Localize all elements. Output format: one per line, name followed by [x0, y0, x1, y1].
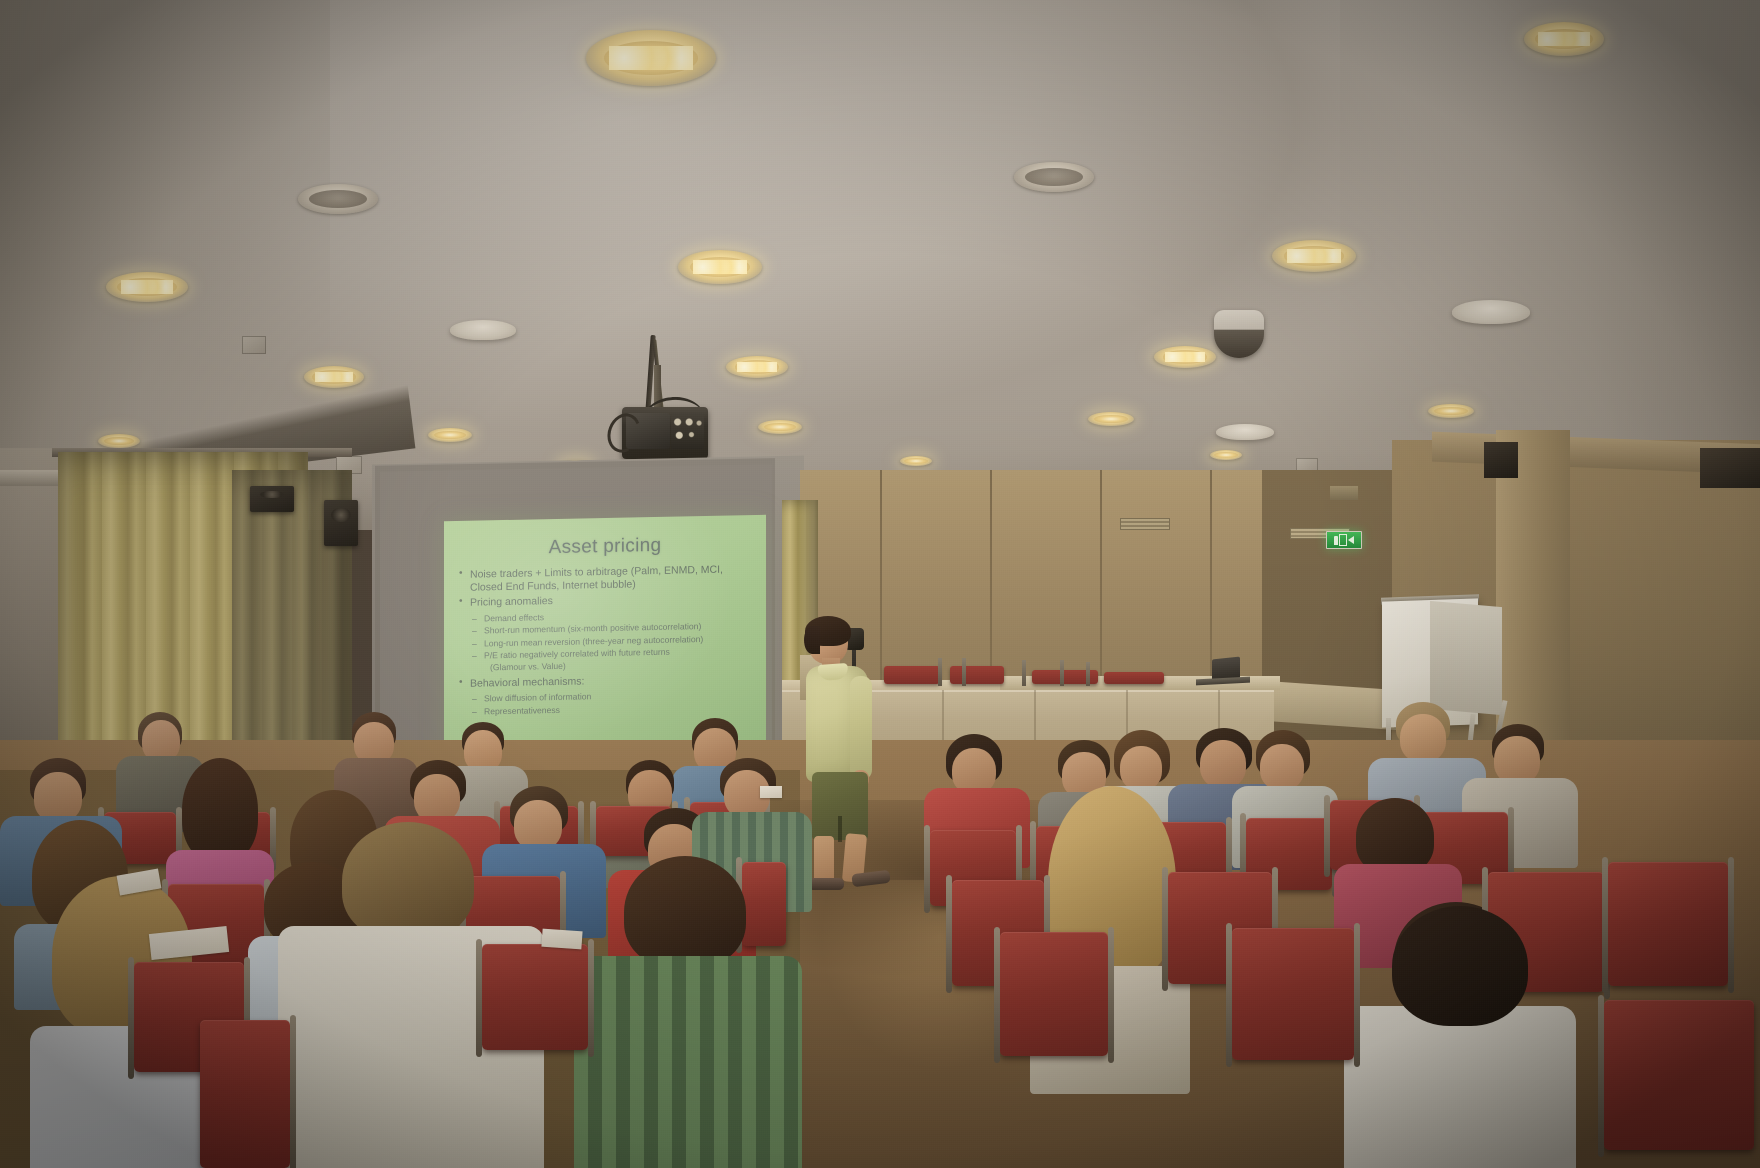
ceiling-light-unlit	[298, 184, 378, 214]
ceiling-light-lit	[726, 356, 788, 378]
person-hair	[1356, 798, 1434, 874]
left-wall-panel	[0, 448, 66, 788]
handout-paper	[541, 929, 582, 950]
presenter-leg	[814, 836, 834, 882]
presenter	[800, 620, 910, 895]
exit-sign-figure	[1334, 536, 1338, 545]
smoke-detector	[1452, 300, 1530, 324]
person-head	[414, 774, 460, 822]
auditorium-chair[interactable]	[1000, 932, 1108, 1056]
person-head	[34, 772, 82, 822]
chair-post	[1086, 662, 1090, 686]
ceiling-diffuser	[1216, 424, 1274, 440]
ceiling-light-lit	[1524, 22, 1604, 56]
ceiling-light-lit	[98, 434, 140, 448]
exit-sign-arrow-icon	[1348, 536, 1354, 544]
slide-title: Asset pricing	[444, 533, 766, 561]
wall-speaker	[324, 500, 358, 546]
auditorium-chair[interactable]	[482, 944, 588, 1050]
ceiling-light-lit	[1272, 240, 1356, 272]
stage-chair	[950, 666, 1004, 684]
slide-bullet: Noise traders + Limits to arbitrage (Pal…	[458, 563, 756, 594]
exit-sign-door	[1339, 534, 1347, 546]
chair-post	[1060, 660, 1064, 686]
ceiling-light-lit	[678, 250, 762, 284]
wall-speaker	[250, 486, 294, 512]
person-head	[1494, 736, 1540, 784]
chair-post	[1022, 660, 1026, 686]
ceiling-light-lit	[1088, 412, 1134, 426]
presenter-arm	[850, 676, 872, 780]
person-body	[574, 956, 802, 1168]
audience-member	[578, 856, 798, 1168]
person-hair	[182, 758, 258, 862]
ceiling-light-lit	[428, 428, 472, 442]
window-sill	[0, 470, 62, 486]
ceiling-light-lit	[1154, 346, 1216, 368]
ceiling-light-lit	[1210, 450, 1242, 460]
dark-window-opening	[1700, 448, 1760, 488]
ceiling-light-lit	[304, 366, 364, 388]
dome-camera	[1214, 310, 1264, 358]
presenter-hair-side	[804, 626, 820, 654]
chair-post	[962, 658, 966, 686]
ceiling-light-lit	[586, 30, 716, 86]
wall-vent	[1120, 518, 1170, 530]
slide-bullet-list: Noise traders + Limits to arbitrage (Pal…	[444, 563, 766, 719]
auditorium-chair[interactable]	[1608, 862, 1728, 986]
auditorium-chair[interactable]	[1604, 1000, 1754, 1150]
person-head	[1400, 714, 1446, 762]
ceiling-projector	[612, 335, 722, 475]
ceiling-light-lit	[900, 456, 932, 466]
ceiling-light-unlit	[1014, 162, 1094, 192]
auditorium-chair[interactable]	[1232, 928, 1354, 1060]
dark-window-opening	[1484, 442, 1518, 478]
ceiling-light-lit	[1428, 404, 1474, 418]
ceiling-vent	[242, 336, 266, 354]
presenter-sandal	[808, 878, 844, 890]
projector-control-panel	[671, 413, 704, 449]
presenter-shorts-seam	[838, 816, 842, 842]
person-hair	[342, 822, 474, 940]
lecture-hall-photo: Asset pricing Noise traders + Limits to …	[0, 0, 1760, 1168]
exit-sign	[1326, 531, 1362, 549]
stage-chair	[1104, 672, 1164, 684]
audience-member-foreground	[1352, 900, 1582, 1168]
ceiling-light-lit	[106, 272, 188, 302]
person-head	[1120, 746, 1162, 790]
wall-mounted-device	[1330, 486, 1358, 500]
smoke-detector	[450, 320, 516, 340]
auditorium-chair[interactable]	[200, 1020, 290, 1168]
person-head	[1260, 744, 1304, 790]
person-hair	[1392, 906, 1528, 1026]
handout-paper	[760, 786, 782, 798]
ceiling-light-lit	[758, 420, 802, 434]
person-hair	[624, 856, 746, 968]
flipchart-rear-leaf	[1430, 601, 1502, 715]
chair-post	[938, 658, 942, 686]
